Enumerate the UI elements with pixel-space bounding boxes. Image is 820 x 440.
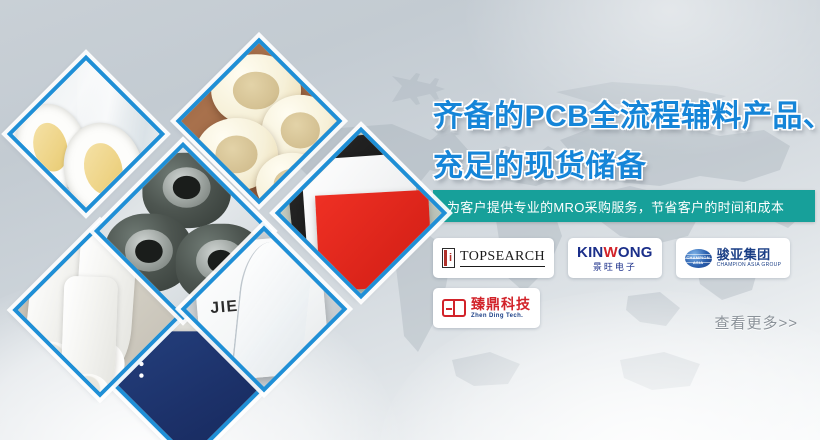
logo-card-topsearch[interactable]: i TOPSEARCH xyxy=(433,238,554,278)
topsearch-wordmark: TOPSEARCH xyxy=(460,249,545,266)
view-more-link[interactable]: 查看更多>> xyxy=(714,312,798,333)
zhen-ding-wordmark-en: Zhen Ding Tech. xyxy=(471,313,531,319)
product-collage: JIE xyxy=(0,0,420,440)
zhen-ding-wordmark-cn: 臻鼎科技 xyxy=(471,297,531,311)
subtitle-text: 为客户提供专业的MRO采购服务，节省客户的时间和成本 xyxy=(447,197,784,216)
topsearch-mark-letter: i xyxy=(449,253,452,264)
kinwong-wordmark-accent: W xyxy=(603,244,617,261)
zhen-ding-lockup: 臻鼎科技 Zhen Ding Tech. xyxy=(471,297,531,319)
globe-icon: CHAMPION ASIA xyxy=(685,249,712,268)
champion-asia-lockup: 骏亚集团 CHAMPION ASIA GROUP xyxy=(717,248,782,268)
kinwong-lockup: KINWONG 景旺电子 xyxy=(577,245,653,272)
label-sheet-text: JIE xyxy=(209,298,239,318)
champion-asia-wordmark-cn: 骏亚集团 xyxy=(717,248,782,261)
promo-banner: JIE 齐备的PCB全流程辅料产品、 充足的现货储备 为客户提供专业的MRO采购… xyxy=(0,0,820,440)
banner-content: 齐备的PCB全流程辅料产品、 充足的现货储备 为客户提供专业的MRO采购服务，节… xyxy=(425,0,820,440)
film-roll xyxy=(61,275,119,397)
headline-line-1: 齐备的PCB全流程辅料产品、 xyxy=(433,91,820,135)
zhending-box-mark-icon xyxy=(442,299,466,317)
logo-card-zhen-ding[interactable]: 臻鼎科技 Zhen Ding Tech. xyxy=(433,288,540,328)
kinwong-wordmark: KINWONG xyxy=(577,245,653,260)
subtitle-band: 为客户提供专业的MRO采购服务，节省客户的时间和成本 xyxy=(433,190,815,222)
globe-icon-label: CHAMPION ASIA xyxy=(685,255,712,265)
kinwong-subtext: 景旺电子 xyxy=(593,263,637,272)
headline-line-2: 充足的现货储备 xyxy=(433,141,647,185)
kinwong-wordmark-pre: KIN xyxy=(577,244,603,261)
champion-asia-wordmark-en: CHAMPION ASIA GROUP xyxy=(717,263,782,268)
logo-card-champion-asia[interactable]: CHAMPION ASIA 骏亚集团 CHAMPION ASIA GROUP xyxy=(676,238,791,278)
topsearch-i-mark-icon: i xyxy=(442,248,455,268)
red-sheet xyxy=(316,190,433,292)
logo-card-kinwong[interactable]: KINWONG 景旺电子 xyxy=(568,238,662,278)
kinwong-wordmark-post: ONG xyxy=(618,244,653,261)
